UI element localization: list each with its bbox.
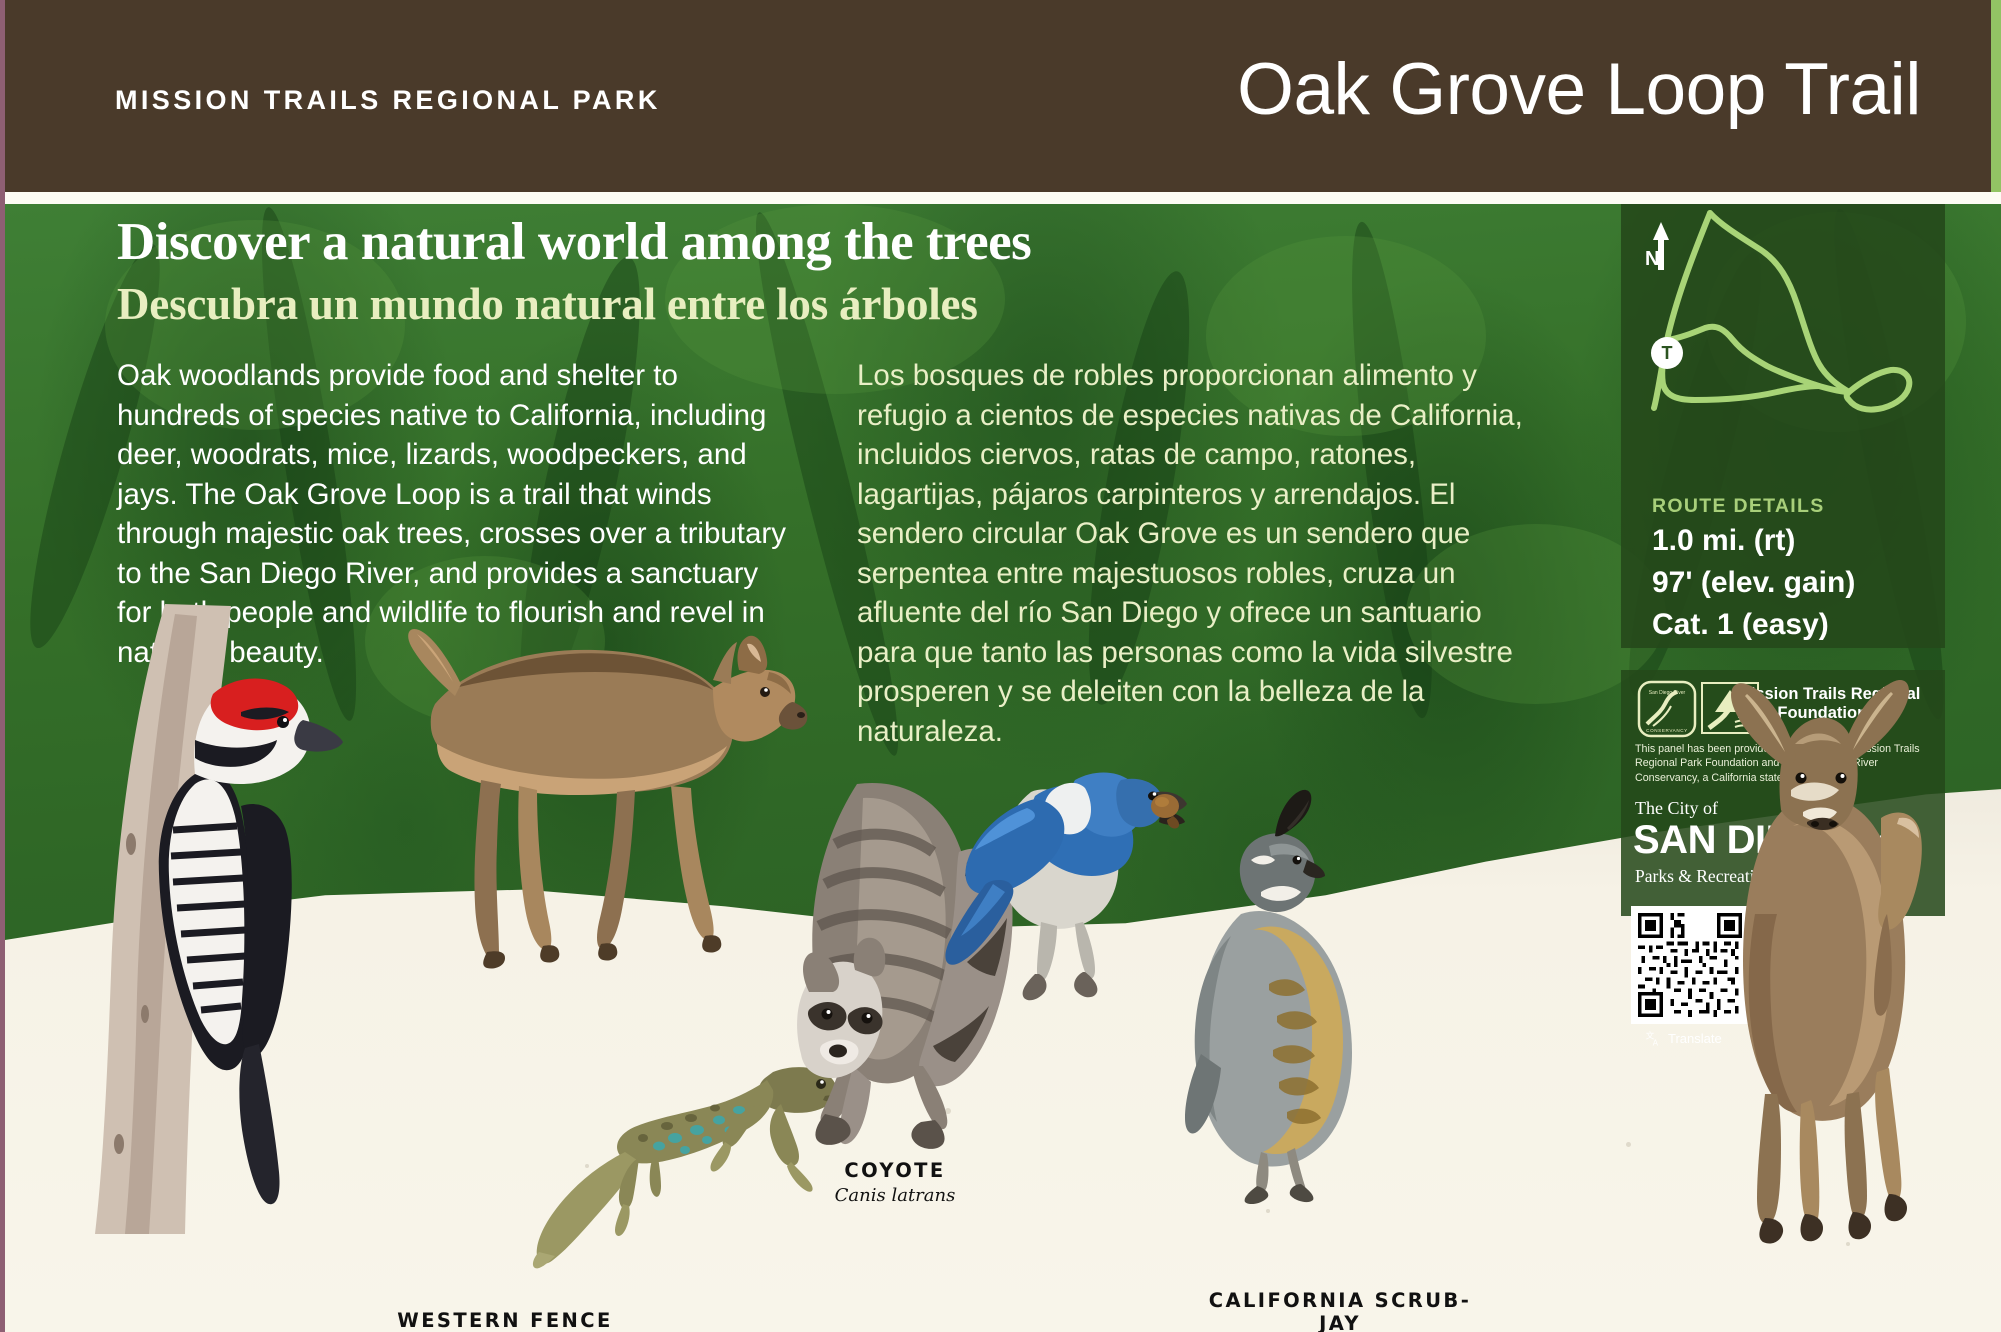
translate-icon: 文 A: [1645, 1030, 1662, 1047]
trailhead-marker[interactable]: T: [1651, 337, 1683, 369]
route-details-heading: ROUTE DETAILS: [1652, 495, 1825, 518]
route-distance: 1.0 mi. (rt): [1652, 524, 1795, 558]
sign-header: MISSION TRAILS REGIONAL PARK Oak Grove L…: [5, 0, 2001, 192]
compass-north-label: N: [1645, 248, 1659, 271]
headline-spanish: Descubra un mundo natural entre los árbo…: [117, 281, 1577, 328]
svg-text:A: A: [1653, 1039, 1659, 1047]
trail-title: Oak Grove Loop Trail: [1237, 48, 1921, 131]
animal-common-name: WESTERN FENCE LIZARD: [355, 1309, 655, 1332]
svg-text:CONSERVANCY: CONSERVANCY: [1646, 728, 1688, 733]
route-details-panel: N T ROUTE DETAILS 1.0 mi. (rt) 97' (elev…: [1621, 204, 1945, 648]
interpretive-sign-panel: MISSION TRAILS REGIONAL PARK Oak Grove L…: [0, 0, 2001, 1332]
header-accent-stripe: [1991, 0, 2001, 192]
svg-text:San Diego River: San Diego River: [1649, 690, 1686, 696]
animal-illustration-california-quail: [1165, 724, 1395, 1209]
animal-common-name: CALIFORNIA SCRUB-JAY: [1195, 1289, 1485, 1332]
trail-route-map[interactable]: N T: [1621, 204, 1945, 500]
headline-english: Discover a natural world among the trees: [117, 216, 1577, 269]
animal-illustration-california-scrub-jay: [935, 684, 1195, 1029]
sign-body: Discover a natural world among the trees…: [5, 204, 2001, 1332]
label-western-fence-lizard: WESTERN FENCE LIZARD Sceloporus occident…: [355, 1309, 655, 1332]
park-name: MISSION TRAILS REGIONAL PARK: [115, 85, 661, 116]
label-california-scrub-jay: CALIFORNIA SCRUB-JAY Aphelocoma californ…: [1195, 1289, 1485, 1332]
animal-illustration-nuttalls-woodpecker: [45, 544, 345, 1249]
header-divider: [5, 192, 2001, 204]
animal-illustration-mule-deer: [1685, 594, 1985, 1259]
